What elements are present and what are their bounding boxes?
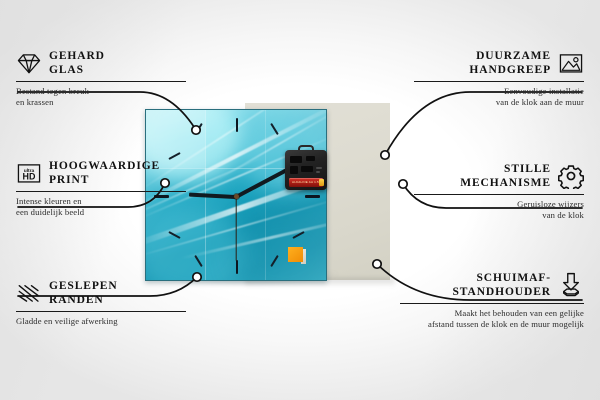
callout-title-line2: GLAS <box>49 64 105 78</box>
mechanism-body: ALKALINE AA 1.5V <box>285 150 327 190</box>
down-arrow-pad-icon <box>558 272 584 298</box>
clock-center-pivot <box>234 194 239 199</box>
clock-tick-12 <box>236 118 238 132</box>
callout-subtitle-line1: Maakt het behouden van een gelijke <box>400 308 584 319</box>
callout-subtitle-line2: van de klok aan de muur <box>414 97 584 108</box>
callout-rule <box>16 311 186 312</box>
clock-tick-3 <box>305 195 320 198</box>
callout-subtitle-line1: Gladde en veilige afwerking <box>16 316 186 327</box>
callout-subtitle-line2: van de klok <box>414 210 584 221</box>
callout-title-line2: PRINT <box>49 174 160 188</box>
callout-title-line2: MECHANISME <box>460 177 551 191</box>
callout-title-line1: GESLEPEN <box>49 280 118 294</box>
gear-icon <box>558 163 584 189</box>
callout-rule <box>400 303 584 304</box>
callout-title-line2: RANDEN <box>49 294 118 308</box>
callout-hoogwaardige-print: ultra HD HOOGWAARDIGE PRINT Intense kleu… <box>16 160 186 217</box>
ultra-hd-icon: ultra HD <box>16 160 42 186</box>
callout-subtitle-line1: Geruisloze wijzers <box>414 199 584 210</box>
callout-gehard-glas: GEHARD GLAS Bestand tegen breuk en krass… <box>16 50 186 107</box>
callout-title-line1: GEHARD <box>49 50 105 64</box>
mechanism-battery: ALKALINE AA 1.5V <box>289 178 323 187</box>
callout-title-line1: HOOGWAARDIGE <box>49 160 160 174</box>
infographic-stage: ALKALINE AA 1.5V <box>0 0 600 400</box>
callout-subtitle-line2: een duidelijk beeld <box>16 207 186 218</box>
diamond-icon <box>16 50 42 76</box>
clock-mechanism: ALKALINE AA 1.5V <box>285 150 327 190</box>
battery-label: ALKALINE AA 1.5V <box>292 180 321 184</box>
clock-second-hand <box>235 196 236 260</box>
foam-spacer <box>288 247 306 265</box>
callout-schuimafstandhouder: SCHUIMAF- STANDHOUDER Maakt het behouden… <box>400 272 584 329</box>
callout-title-line2: STANDHOUDER <box>452 286 551 300</box>
callout-subtitle-line1: Intense kleuren en <box>16 196 186 207</box>
callout-title-line2: HANDGREEP <box>469 64 551 78</box>
clock-tick-6 <box>236 260 238 274</box>
callout-duurzame-handgreep: DUURZAME HANDGREEP Eenvoudige installati… <box>414 50 584 107</box>
callout-subtitle-line2: en krassen <box>16 97 186 108</box>
battery-positive-terminal <box>319 179 324 186</box>
callout-subtitle-line2: afstand tussen de klok en de muur mogeli… <box>400 319 584 330</box>
callout-geslepen-randen: GESLEPEN RANDEN Gladde en veilige afwerk… <box>16 280 186 327</box>
picture-frame-icon <box>558 50 584 76</box>
callout-rule <box>16 191 186 192</box>
callout-rule <box>414 81 584 82</box>
callout-rule <box>16 81 186 82</box>
callout-subtitle-line1: Eenvoudige installatie <box>414 86 584 97</box>
callout-stille-mechanisme: STILLE MECHANISME Geruisloze wijzers van… <box>414 163 584 220</box>
callout-title-line1: STILLE <box>460 163 551 177</box>
diagonal-lines-icon <box>16 280 42 306</box>
callout-title-line1: DUURZAME <box>469 50 551 64</box>
callout-rule <box>414 194 584 195</box>
svg-text:HD: HD <box>23 172 36 182</box>
callout-subtitle-line1: Bestand tegen breuk <box>16 86 186 97</box>
callout-title-line1: SCHUIMAF- <box>452 272 551 286</box>
